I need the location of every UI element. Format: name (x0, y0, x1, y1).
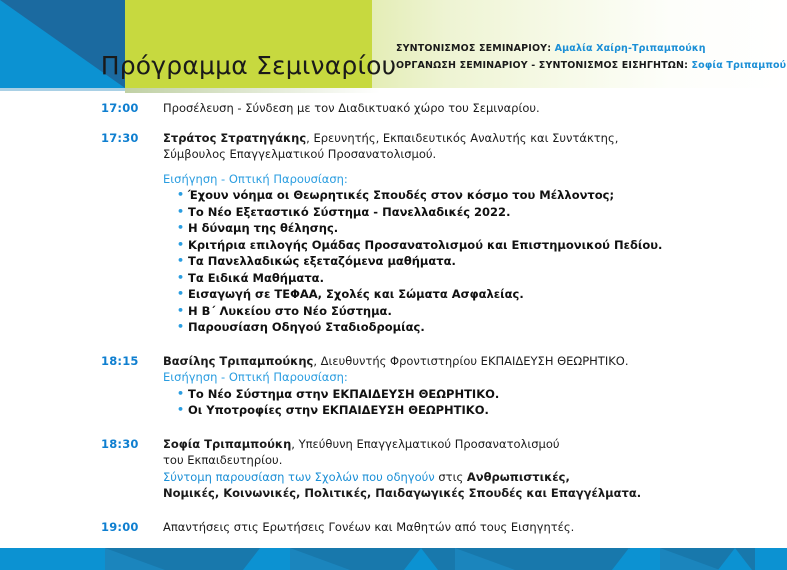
list-item: Οι Υποτροφίες στην ΕΚΠΑΙΔΕΥΣΗ ΘΕΩΡΗΤΙΚΟ. (177, 402, 692, 419)
footer-facet-slant (290, 548, 350, 570)
session-bullet-list: Έχουν νόημα οι Θεωρητικές Σπουδές στον κ… (163, 187, 692, 336)
program-row: 17:00 Προσέλευση - Σύνδεση με τον Διαδικ… (0, 100, 787, 117)
credit-name-coordination: Αμαλία Χαίρη-Τριπαμπούκη (555, 43, 706, 54)
credit-name-organization: Σοφία Τριπαμπούκη (692, 60, 787, 71)
list-item: Εισαγωγή σε ΤΕΦΑΑ, Σχολές και Σώματα Ασφ… (177, 286, 692, 303)
footer-facet-slant (105, 548, 165, 570)
footer-triangle-up (612, 548, 646, 570)
list-item: Τα Πανελλαδικώς εξεταζόμενα μαθήματα. (177, 253, 692, 270)
footer-facet-slant (455, 548, 515, 570)
speaker-role-line2: Σύμβουλος Επαγγελματικού Προσανατολισμού… (163, 146, 692, 163)
footer-triangle-up (718, 548, 752, 570)
program-body: Απαντήσεις στις Ερωτήσεις Γονέων και Μαθ… (163, 519, 787, 536)
program-time: 17:30 (0, 130, 163, 336)
program-body: Βασίλης Τριπαμπούκης, Διευθυντής Φροντισ… (163, 353, 787, 419)
credit-line-organization: ΟΡΓΑΝΩΣΗ ΣΕΜΙΝΑΡΙΟΥ - ΣΥΝΤΟΝΙΣΜΟΣ ΕΙΣΗΓΗ… (396, 57, 787, 74)
speaker-role: , Διευθυντής Φροντιστηρίου ΕΚΠΑΙΔΕΥΣΗ ΘΕ… (313, 354, 628, 368)
program-time: 17:00 (0, 100, 163, 117)
footer-triangle-up (404, 548, 438, 570)
speaker-line: Στράτος Στρατηγάκης, Ερευνητής, Εκπαιδευ… (163, 130, 692, 147)
program-time: 18:30 (0, 436, 163, 502)
speaker-role: , Υπεύθυνη Επαγγελματικού Προσανατολισμο… (291, 437, 559, 451)
presentation-note-line2: Νομικές, Κοινωνικές, Πολιτικές, Παιδαγωγ… (163, 485, 692, 502)
program-row: 18:15 Βασίλης Τριπαμπούκης, Διευθυντής Φ… (0, 353, 787, 419)
program-body: Σοφία Τριπαμπούκη, Υπεύθυνη Επαγγελματικ… (163, 436, 787, 502)
program-body: Στράτος Στρατηγάκης, Ερευνητής, Εκπαιδευ… (163, 130, 787, 336)
program-description: Απαντήσεις στις Ερωτήσεις Γονέων και Μαθ… (163, 520, 574, 534)
footer-triangle-up (243, 548, 277, 570)
presentation-note: Σύντομη παρουσίαση των Σχολών που οδηγού… (163, 469, 692, 486)
list-item: Παρουσίαση Οδηγού Σταδιοδρομίας. (177, 319, 692, 336)
speaker-role-line2: του Εκπαιδευτηρίου. (163, 452, 692, 469)
page-footer (0, 548, 787, 570)
credit-label-organization: ΟΡΓΑΝΩΣΗ ΣΕΜΙΝΑΡΙΟΥ - ΣΥΝΤΟΝΙΣΜΟΣ ΕΙΣΗΓΗ… (396, 60, 688, 71)
list-item: Το Νέο Σύστημα στην ΕΚΠΑΙΔΕΥΣΗ ΘΕΩΡΗΤΙΚΟ… (177, 386, 692, 403)
speaker-line: Σοφία Τριπαμπούκη, Υπεύθυνη Επαγγελματικ… (163, 436, 692, 453)
page-title: Πρόγραμμα Σεμιναρίου (125, 0, 372, 88)
program-row: 19:00 Απαντήσεις στις Ερωτήσεις Γονέων κ… (0, 519, 787, 536)
program-row: 17:30 Στράτος Στρατηγάκης, Ερευνητής, Εκ… (0, 130, 787, 336)
session-bullet-list: Το Νέο Σύστημα στην ΕΚΠΑΙΔΕΥΣΗ ΘΕΩΡΗΤΙΚΟ… (163, 386, 692, 419)
list-item: Έχουν νόημα οι Θεωρητικές Σπουδές στον κ… (177, 187, 692, 204)
session-subheading: Εισήγηση - Οπτική Παρουσίαση: (163, 369, 692, 386)
program-body: Προσέλευση - Σύνδεση με τον Διαδικτυακό … (163, 100, 787, 117)
presentation-note-bold: Ανθρωπιστικές, (467, 470, 570, 484)
program-time: 19:00 (0, 519, 163, 536)
list-item: Κριτήρια επιλογής Ομάδας Προσανατολισμού… (177, 237, 692, 254)
header-blue-shadow (0, 88, 125, 91)
session-subheading: Εισήγηση - Οπτική Παρουσίαση: (163, 171, 692, 188)
list-item: Τα Ειδικά Μαθήματα. (177, 270, 692, 287)
credit-line-coordination: ΣΥΝΤΟΝΙΣΜΟΣ ΣΕΜΙΝΑΡΙΟΥ: Αμαλία Χαίρη-Τρι… (396, 40, 787, 57)
footer-facet-slant (660, 548, 720, 570)
speaker-line: Βασίλης Τριπαμπούκης, Διευθυντής Φροντισ… (163, 353, 692, 370)
speaker-name: Σοφία Τριπαμπούκη (163, 437, 291, 451)
header-shadow (125, 88, 380, 93)
speaker-name: Βασίλης Τριπαμπούκης (163, 354, 313, 368)
program-time: 18:15 (0, 353, 163, 419)
list-item: Η δύναμη της θέλησης. (177, 220, 692, 237)
presentation-note-mid: στις (435, 470, 467, 484)
speaker-role: , Ερευνητής, Εκπαιδευτικός Αναλυτής και … (306, 131, 618, 145)
list-item: Το Νέο Εξεταστικό Σύστημα - Πανελλαδικές… (177, 204, 692, 221)
speaker-name: Στράτος Στρατηγάκης (163, 131, 306, 145)
program-description: Προσέλευση - Σύνδεση με τον Διαδικτυακό … (163, 101, 540, 115)
presentation-note-link: Σύντομη παρουσίαση των Σχολών που οδηγού… (163, 470, 435, 484)
credit-label-coordination: ΣΥΝΤΟΝΙΣΜΟΣ ΣΕΜΙΝΑΡΙΟΥ: (396, 43, 551, 54)
program-schedule: 17:00 Προσέλευση - Σύνδεση με τον Διαδικ… (0, 100, 787, 548)
list-item: Η Β΄ Λυκείου στο Νέο Σύστημα. (177, 303, 692, 320)
header-credits: ΣΥΝΤΟΝΙΣΜΟΣ ΣΕΜΙΝΑΡΙΟΥ: Αμαλία Χαίρη-Τρι… (396, 40, 787, 74)
program-row: 18:30 Σοφία Τριπαμπούκη, Υπεύθυνη Επαγγε… (0, 436, 787, 502)
